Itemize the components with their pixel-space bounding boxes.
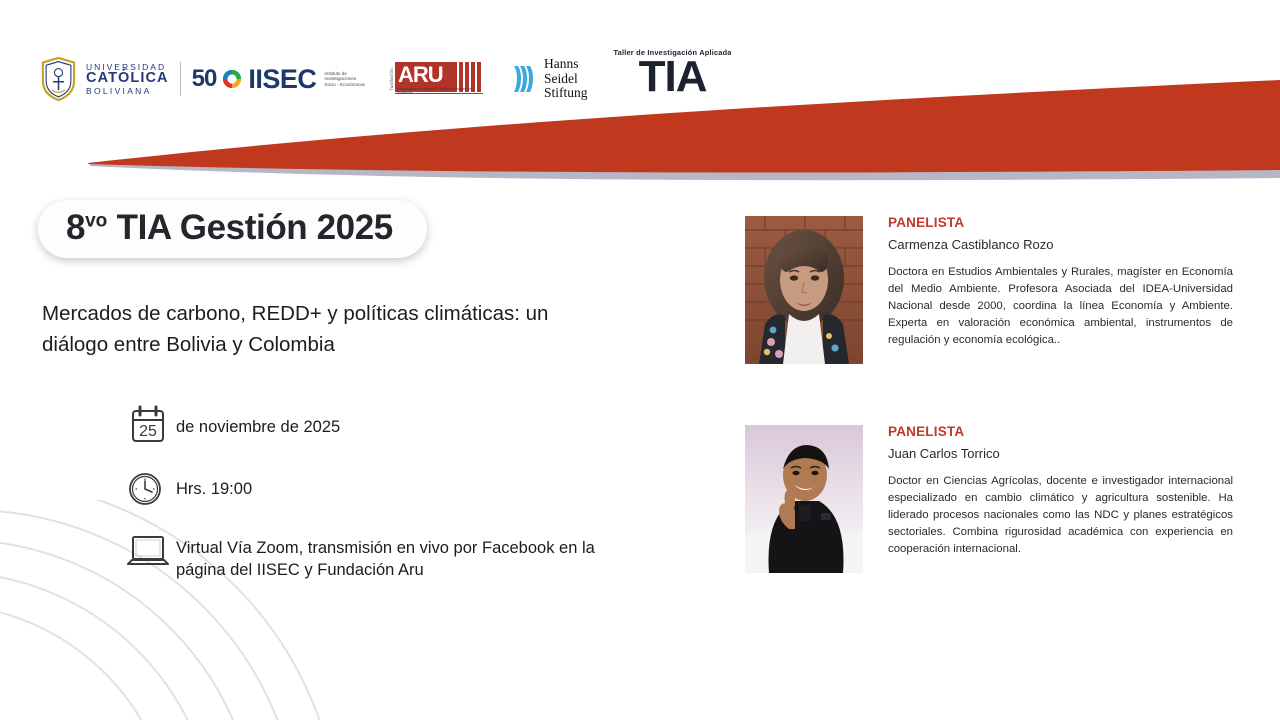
calendar-icon: 25 [126,405,176,447]
detail-row-time: Hrs. 19:00 [126,469,686,509]
panelist-photo-2 [745,425,863,573]
iisec-spiral-icon [221,68,243,90]
event-details: 25 de noviembre de 2025 Hrs. 19:00 [126,405,686,603]
poster-canvas: UNIVERSIDAD CATÓLICA BOLIVIANA 50 IISEC … [0,0,1280,720]
iisec-subtitle: Instituto de Investigaciones Socio - Eco… [324,71,365,87]
logo-ucb: UNIVERSIDAD CATÓLICA BOLIVIANA [40,48,169,110]
hss-line2: Seidel [544,72,588,87]
title-superscript: vo [85,210,107,231]
hss-wordmark: Hanns Seidel Stiftung [544,57,588,102]
panelist-info-1: PANELISTA Carmenza Castiblanco Rozo Doct… [888,216,1233,364]
panelist-bio-1: Doctora en Estudios Ambientales y Rurale… [888,264,1233,348]
aru-caption: Investigación en Calidad, Políticas Soci… [397,87,483,95]
ucb-wordmark: UNIVERSIDAD CATÓLICA BOLIVIANA [86,63,169,96]
detail-text-date: de noviembre de 2025 [176,405,340,438]
aru-vertical-text: fundación [389,68,394,90]
hss-waves-icon [511,62,537,96]
subtitle-line-1: Mercados de carbono, REDD+ y políticas c… [42,302,548,325]
iisec-wordmark: IISEC [248,66,316,93]
event-title-badge: 8vo TIA Gestión 2025 [38,200,427,258]
page-title: 8vo TIA Gestión 2025 [66,210,393,245]
hss-line3: Stiftung [544,86,588,101]
panelist-label-2: PANELISTA [888,425,1233,440]
title-number: 8 [66,208,85,247]
hss-line1: Hanns [544,57,588,72]
iisec-sub-line3: Socio - Económicas [324,82,365,87]
panelist-info-2: PANELISTA Juan Carlos Torrico Doctor en … [888,425,1233,573]
logo-iisec: 50 IISEC Instituto de Investigaciones So… [192,48,365,110]
shield-crest-icon [40,57,77,101]
tia-wordmark: TIA [639,58,707,97]
panelist-name-1: Carmenza Castiblanco Rozo [888,237,1233,253]
detail-text-time: Hrs. 19:00 [176,469,252,500]
title-rest: TIA Gestión 2025 [107,208,393,247]
panelist-label-1: PANELISTA [888,216,1233,231]
aru-bars-icon: ARU Investigación en Calidad, Políticas … [395,62,483,96]
ucb-line3: BOLIVIANA [86,87,169,96]
logo-tia: Taller de Investigación Aplicada TIA [614,48,732,110]
detail-text-platform: Virtual Vía Zoom, transmisión en vivo po… [176,533,646,581]
event-subtitle: Mercados de carbono, REDD+ y políticas c… [42,298,672,360]
panelist-card-1: PANELISTA Carmenza Castiblanco Rozo Doct… [745,216,1233,364]
subtitle-line-2: diálogo entre Bolivia y Colombia [42,329,672,360]
laptop-icon [126,533,176,571]
logo-aru: fundación ARU Investigación en Calidad, … [389,48,483,110]
ucb-line2: CATÓLICA [86,71,169,86]
panelist-photo-1 [745,216,863,364]
aru-letters: ARU [398,64,443,86]
panelist-bio-2: Doctor en Ciencias Agrícolas, docente e … [888,473,1233,557]
logo-strip: UNIVERSIDAD CATÓLICA BOLIVIANA 50 IISEC … [40,48,732,110]
detail-row-platform: Virtual Vía Zoom, transmisión en vivo po… [126,533,686,581]
logo-divider-1 [180,62,181,96]
panelist-card-2: PANELISTA Juan Carlos Torrico Doctor en … [745,425,1233,573]
calendar-day-number: 25 [139,423,157,440]
logo-hanns-seidel: Hanns Seidel Stiftung [511,48,588,110]
iisec-anniversary: 50 [192,67,217,91]
clock-icon [126,469,176,509]
panelist-name-2: Juan Carlos Torrico [888,446,1233,462]
detail-row-date: 25 de noviembre de 2025 [126,405,686,447]
